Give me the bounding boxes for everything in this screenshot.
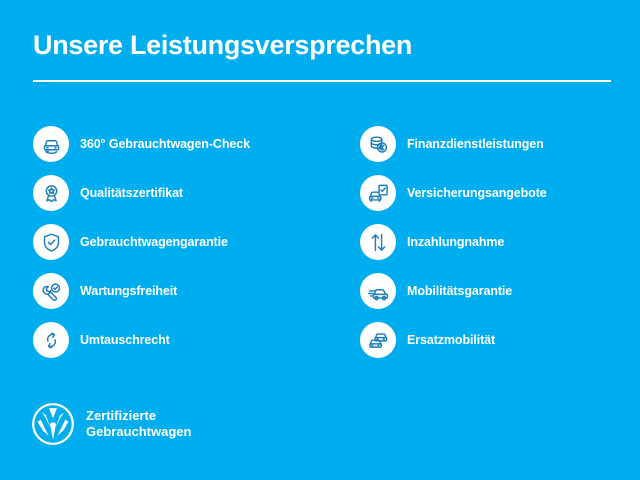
- car-motion-icon: [360, 273, 396, 309]
- benefit-item-trade-in: Inzahlungnahme: [360, 224, 547, 260]
- coins-euro-icon: [360, 126, 396, 162]
- benefit-item-insurance-offers: Versicherungsangebote: [360, 175, 547, 211]
- shield-check-icon: [33, 224, 69, 260]
- benefit-label: Gebrauchtwagengarantie: [80, 235, 228, 249]
- up-down-arrows-icon: [360, 224, 396, 260]
- benefit-label: Finanzdienstleistungen: [407, 137, 544, 151]
- benefit-item-exchange-right: Umtauschrecht: [33, 322, 250, 358]
- brand-text: Zertifizierte Gebrauchtwagen: [86, 408, 191, 440]
- car-360-check-icon: [33, 126, 69, 162]
- benefit-label: 360° Gebrauchtwagen-Check: [80, 137, 250, 151]
- benefit-item-financial-services: Finanzdienstleistungen: [360, 126, 547, 162]
- benefit-label: Qualitätszertifikat: [80, 186, 183, 200]
- two-cars-icon: [360, 322, 396, 358]
- benefit-label: Umtauschrecht: [80, 333, 170, 347]
- brand-line-1: Zertifizierte: [86, 408, 191, 424]
- wrench-check-icon: [33, 273, 69, 309]
- page-title: Unsere Leistungsversprechen: [33, 30, 412, 61]
- benefit-label: Versicherungsangebote: [407, 186, 547, 200]
- benefit-column-right: Finanzdienstleistungen Versicherungsange…: [360, 126, 547, 371]
- benefit-label: Inzahlungnahme: [407, 235, 504, 249]
- brand-lockup: Zertifizierte Gebrauchtwagen: [31, 402, 191, 446]
- title-divider: [33, 80, 611, 82]
- benefit-item-replacement-mobility: Ersatzmobilität: [360, 322, 547, 358]
- benefit-item-360-check: 360° Gebrauchtwagen-Check: [33, 126, 250, 162]
- award-rosette-icon: [33, 175, 69, 211]
- benefit-label: Mobilitätsgarantie: [407, 284, 512, 298]
- benefit-label: Ersatzmobilität: [407, 333, 495, 347]
- benefit-column-left: 360° Gebrauchtwagen-Check Qualitätszerti…: [33, 126, 250, 371]
- volkswagen-logo: [31, 402, 75, 446]
- benefit-item-maintenance-free: Wartungsfreiheit: [33, 273, 250, 309]
- car-document-check-icon: [360, 175, 396, 211]
- benefit-item-warranty: Gebrauchtwagengarantie: [33, 224, 250, 260]
- benefit-item-mobility-guarantee: Mobilitätsgarantie: [360, 273, 547, 309]
- exchange-arrows-icon: [33, 322, 69, 358]
- promo-poster: Unsere Leistungsversprechen 360° Gebrauc…: [0, 0, 640, 480]
- benefit-item-quality-certificate: Qualitätszertifikat: [33, 175, 250, 211]
- brand-line-2: Gebrauchtwagen: [86, 424, 191, 440]
- benefit-label: Wartungsfreiheit: [80, 284, 177, 298]
